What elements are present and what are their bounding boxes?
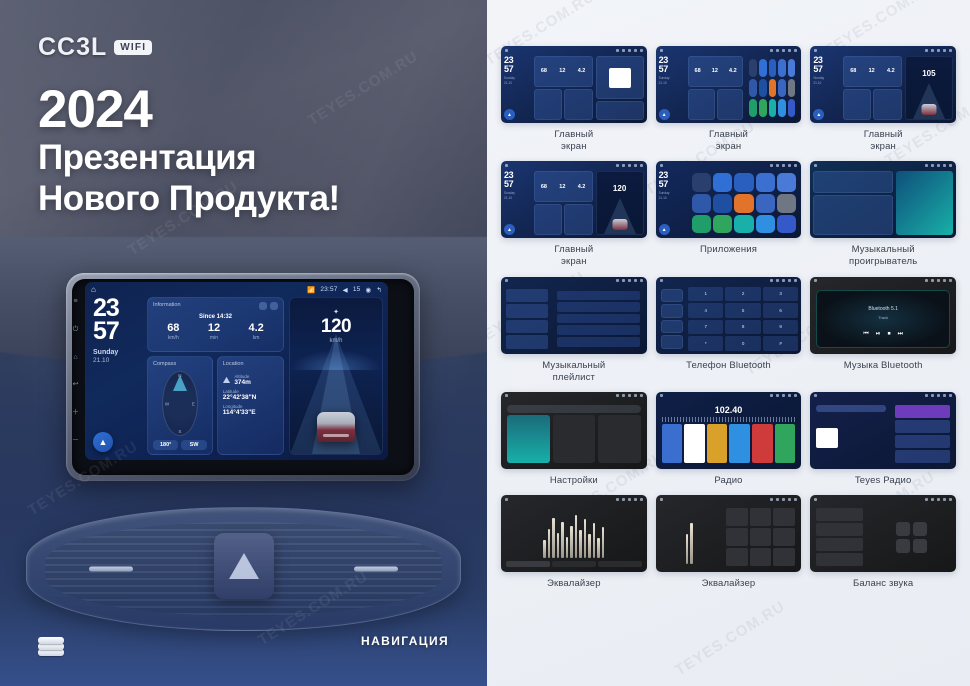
app-icon	[749, 99, 757, 117]
volume-icon	[628, 498, 631, 501]
wifi-tile	[507, 415, 550, 463]
app-icon	[769, 59, 777, 77]
volume-icon	[628, 394, 631, 397]
location-card	[717, 89, 744, 120]
side-key-menu-icon[interactable]: ≡	[73, 298, 77, 305]
dialer-key: 0	[725, 336, 760, 351]
app-icon	[749, 59, 757, 77]
gallery-item-label: Главныйэкран	[864, 129, 903, 153]
app-icon	[734, 215, 753, 234]
thumb-status-bar	[656, 46, 802, 54]
screen-thumbnail[interactable]: 2357Sunday21.10▲68124.2	[501, 46, 647, 123]
seat-icon	[913, 522, 927, 536]
hero-panel: TEYES.COM.RU TEYES.COM.RU TEYES.COM.RU T…	[0, 0, 487, 686]
app-icon	[788, 79, 796, 97]
list-item	[506, 320, 548, 334]
assistant-icon	[788, 394, 791, 397]
thumb-status-bar	[501, 495, 647, 503]
compass-card[interactable]: Compass N S W E 180°	[147, 356, 213, 455]
equalizer-band	[602, 527, 605, 558]
wifi-icon	[616, 498, 619, 501]
thumbnail-content: 2357Sunday21.10▲68124.2	[656, 54, 802, 123]
gallery-item[interactable]: Музыкальныйплейлист	[501, 277, 647, 384]
preset-button	[726, 548, 748, 566]
thumb-clock-widget: 2357Sunday21.10▲	[659, 56, 685, 120]
back-icon	[794, 49, 797, 52]
headline-line-1: Презентация	[38, 137, 340, 178]
equalizer-band	[548, 529, 551, 558]
screen-thumbnail[interactable]	[810, 161, 956, 238]
information-header: Information	[153, 302, 278, 310]
drive-view-card[interactable]: ✦ 120 km/h	[289, 297, 383, 455]
assistant-icon	[788, 164, 791, 167]
screen-thumbnail[interactable]	[501, 495, 647, 572]
information-since: Since 14:32	[153, 314, 278, 320]
list-item	[506, 289, 548, 303]
gallery-item-label: Главныйэкран	[709, 129, 748, 153]
navigation-icon[interactable]: ▲	[93, 432, 113, 452]
thumb-widgets-column: 68124.2	[843, 56, 902, 120]
navigation-icon: ▲	[813, 109, 824, 120]
clock-weekday: Sunday21.10	[659, 76, 685, 86]
side-key-home-icon[interactable]: ⌂	[73, 354, 77, 361]
clock-icon	[931, 49, 934, 52]
drive-view-card: 120	[596, 171, 644, 235]
location-title: Location	[223, 361, 278, 367]
screen-thumbnail[interactable]	[501, 277, 647, 354]
app-shortcuts-panel	[746, 56, 798, 120]
clock-weekday: Sunday	[90, 348, 142, 357]
gallery-item-label: Эквалайзер	[547, 578, 601, 590]
home-icon	[814, 279, 817, 282]
screen-thumbnail[interactable]: 2357Sunday21.10▲68124.2105	[810, 46, 956, 123]
dialer-key: 2	[725, 287, 760, 302]
thumb-clock-widget: 2357Sunday21.10▲	[813, 56, 840, 120]
gallery-item[interactable]: Teyes Радио	[810, 392, 956, 487]
information-stats: 68124.2	[535, 172, 592, 201]
gallery-item[interactable]: Настройки	[501, 392, 647, 487]
volume-icon	[937, 279, 940, 282]
thumb-status-bar	[810, 46, 956, 54]
list-item	[506, 304, 548, 318]
list-item	[816, 553, 863, 566]
thumb-status-bar	[501, 46, 647, 54]
assistant-icon	[943, 164, 946, 167]
thumbnail-content	[501, 503, 647, 572]
hero-footer: НАВИГАЦИЯ	[0, 614, 487, 686]
volume-icon	[628, 49, 631, 52]
back-icon[interactable]: ↰	[376, 286, 382, 294]
thumbnail-content: Bluetooth 5.1Track⏮⏯⏹⏭	[810, 285, 956, 354]
thumb-status-bar	[501, 161, 647, 169]
screen-thumbnail[interactable]	[501, 392, 647, 469]
app-icon	[777, 173, 796, 192]
screen-thumbnail[interactable]: 2357Sunday21.10▲68124.2	[656, 46, 802, 123]
drive-view-card: 105	[905, 56, 953, 120]
thumbnail-content: 2357Sunday21.10▲	[656, 169, 802, 238]
equalizer-band	[557, 533, 560, 558]
home-icon	[660, 49, 663, 52]
location-card	[564, 89, 592, 120]
gallery-item-label: Приложения	[700, 244, 757, 256]
preset-grid	[723, 505, 799, 569]
drive-speed-value: 120	[290, 317, 382, 336]
gallery-item[interactable]: Bluetooth 5.1Track⏮⏯⏹⏭Музыка Bluetooth	[810, 277, 956, 384]
visualizer	[896, 171, 953, 235]
dialer-key: 3	[763, 287, 798, 302]
wifi-icon	[925, 279, 928, 282]
gallery-item[interactable]: 102.40Радио	[656, 392, 802, 487]
stat-duration: 12 min	[208, 323, 220, 341]
information-card[interactable]: Information Since 14:32 68	[147, 297, 284, 352]
back-icon	[794, 164, 797, 167]
volume-icon	[782, 498, 785, 501]
app-icon	[692, 173, 711, 192]
media-widget	[596, 56, 644, 120]
thumb-status-bar	[656, 161, 802, 169]
thumb-status-bar	[810, 277, 956, 285]
clock-icon	[622, 394, 625, 397]
clock-icon	[622, 49, 625, 52]
compass-east-label: E	[192, 401, 195, 406]
app-icon	[756, 215, 775, 234]
clock-icon	[931, 498, 934, 501]
screen-thumbnail[interactable]: 123456789*0#	[656, 277, 802, 354]
thumb-status-bar	[501, 392, 647, 400]
wifi-icon	[925, 394, 928, 397]
preset-button	[726, 508, 748, 526]
layers-icon	[38, 636, 64, 656]
gallery-item[interactable]: 2357Sunday21.10▲Приложения	[656, 161, 802, 268]
album-art	[609, 68, 631, 88]
screen-thumbnail[interactable]	[810, 495, 956, 572]
list-item	[506, 335, 548, 349]
watermark: TEYES.COM.RU	[672, 598, 788, 679]
stop-icon: ⏹	[888, 331, 891, 338]
balance-pad	[869, 505, 953, 569]
wifi-icon	[925, 49, 928, 52]
head-unit-screen[interactable]: ⌂ 📶 23:57 ◀ 15 ◉ ↰ 23 57 Sunday	[85, 282, 388, 460]
headline-line-2: Нового Продукта!	[38, 178, 340, 219]
clock-minutes: 57	[659, 180, 687, 189]
preset-tile	[707, 424, 728, 463]
wifi-icon	[925, 164, 928, 167]
equalizer-band	[543, 540, 546, 558]
clock-icon	[931, 164, 934, 167]
hazard-triangle-icon	[229, 553, 259, 579]
drive-speed-unit: km/h	[290, 338, 382, 344]
screen-thumbnail[interactable]: Bluetooth 5.1Track⏮⏯⏹⏭	[810, 277, 956, 354]
app-icon	[692, 194, 711, 213]
status-volume: 15	[353, 286, 361, 293]
assistant-icon	[634, 164, 637, 167]
back-icon	[949, 394, 952, 397]
information-stats: 68124.2	[689, 57, 742, 86]
equalizer-band	[686, 534, 689, 564]
home-icon	[814, 498, 817, 501]
gallery-item[interactable]: 2357Sunday21.10▲68124.2105Главныйэкран	[810, 46, 956, 153]
tuning-scale	[662, 417, 796, 422]
car-3d-model	[612, 219, 627, 230]
volume-icon	[782, 394, 785, 397]
clock-icon	[776, 164, 779, 167]
thumb-clock-widget: 2357Sunday21.10▲	[504, 171, 531, 235]
app-grid	[690, 171, 799, 235]
track-title: Track	[816, 315, 950, 320]
vent-slider-right[interactable]	[354, 567, 398, 572]
latitude-value: 22°42'38"N	[223, 394, 278, 401]
list-item	[557, 337, 640, 347]
stat-distance: 4.2 km	[248, 323, 263, 341]
previous-icon: ⏮	[863, 331, 868, 338]
wifi-icon	[616, 394, 619, 397]
preset-button	[773, 548, 795, 566]
teyes-radio-player	[813, 402, 889, 466]
preset-button	[750, 548, 772, 566]
list-item	[557, 325, 640, 335]
gallery-item[interactable]: 2357Sunday21.10▲68124.2Главныйэкран	[656, 46, 802, 153]
dialer-key: 1	[688, 287, 723, 302]
volume-icon	[937, 164, 940, 167]
side-key-volume-down-icon[interactable]: －	[72, 437, 79, 444]
app-icon	[788, 99, 796, 117]
assistant-icon	[634, 394, 637, 397]
gallery-item[interactable]: 2357Sunday21.10▲68124.2120Главныйэкран	[501, 161, 647, 268]
wifi-icon	[925, 498, 928, 501]
home-icon	[660, 394, 663, 397]
thumb-clock-widget: 2357Sunday21.10▲	[504, 56, 531, 120]
volume-icon	[937, 498, 940, 501]
list-item	[816, 508, 863, 521]
thumb-widgets-column: 68124.2	[534, 56, 593, 120]
screen-thumbnail[interactable]: 102.40	[656, 392, 802, 469]
list-item	[557, 302, 640, 312]
compass-dial: N S W E	[162, 371, 198, 436]
side-key-power-icon[interactable]: ⏻	[73, 326, 79, 333]
volume-icon	[937, 49, 940, 52]
equalizer-band	[588, 534, 591, 558]
clock-icon	[622, 164, 625, 167]
clock-minutes: 57	[90, 320, 142, 343]
gallery-item[interactable]: 123456789*0#Телефон Bluetooth	[656, 277, 802, 384]
location-card[interactable]: Location ⛰ Altitude 374m	[217, 356, 284, 455]
gallery-item[interactable]: Баланс звука	[810, 495, 956, 590]
app-icon	[713, 215, 732, 234]
back-icon	[794, 279, 797, 282]
gallery-item[interactable]: Музыкальныйпроигрыватель	[810, 161, 956, 268]
thumbnail-content: 123456789*0#	[656, 285, 802, 354]
volume-icon	[937, 394, 940, 397]
head-unit-side-keys[interactable]: ≡ ⏻ ⌂ ↩ ＋ －	[66, 282, 85, 460]
clock-icon	[776, 498, 779, 501]
app-icon	[769, 79, 777, 97]
dialer-key: 4	[688, 303, 723, 318]
drive-speed-value: 105	[906, 69, 952, 78]
settings-tabs	[507, 405, 641, 413]
wifi-icon	[616, 279, 619, 282]
gallery-item-label: Радио	[714, 475, 742, 487]
home-icon	[814, 394, 817, 397]
more-tile	[598, 415, 641, 463]
clock-icon	[931, 394, 934, 397]
equalizer-bands	[506, 507, 642, 561]
information-stats: 68124.2	[535, 57, 592, 86]
home-screen-body: 23 57 Sunday 21.10 ▲ Information	[85, 297, 388, 460]
gallery-item[interactable]: Эквалайзер	[501, 495, 647, 590]
home-icon	[505, 164, 508, 167]
play-pause-icon: ⏯	[876, 331, 881, 338]
clock-icon	[776, 49, 779, 52]
back-icon	[640, 164, 643, 167]
equalizer-band	[561, 522, 564, 558]
dialer-key: 5	[725, 303, 760, 318]
information-card: 68124.2	[534, 171, 593, 202]
preset-button	[750, 528, 772, 546]
thumb-status-bar	[810, 495, 956, 503]
list-item	[895, 405, 950, 418]
app-icon	[778, 79, 786, 97]
equalizer-band	[575, 515, 578, 558]
home-icon	[660, 279, 663, 282]
side-key-volume-up-icon[interactable]: ＋	[72, 409, 79, 416]
mountain-icon: ⛰	[223, 375, 231, 386]
volume-icon: ◀	[343, 286, 348, 294]
stat-value: 68	[167, 323, 179, 334]
thumbnail-content: 2357Sunday21.10▲68124.2105	[810, 54, 956, 123]
settings-panel	[504, 402, 644, 466]
equalizer-band	[579, 530, 582, 558]
information-stats: 68 km/h 12 min 4.2 km	[153, 323, 278, 341]
location-card	[564, 204, 592, 235]
dialer-key: #	[763, 336, 798, 351]
information-stats: 68124.2	[844, 57, 901, 86]
wifi-icon	[770, 498, 773, 501]
equalizer-panel	[504, 505, 644, 569]
clock-icon	[776, 279, 779, 282]
thumb-clock-widget: 2357Sunday21.10▲	[659, 171, 687, 235]
screen-thumbnail[interactable]: 2357Sunday21.10▲68124.2120	[501, 161, 647, 238]
app-icon	[713, 194, 732, 213]
clock-icon	[622, 498, 625, 501]
equalizer-band	[566, 537, 569, 558]
list-item	[557, 291, 640, 301]
information-reset-icon[interactable]	[270, 302, 278, 310]
app-icon	[734, 173, 753, 192]
clock-date: 21.10	[90, 357, 142, 364]
preset-tile	[684, 424, 705, 463]
screen-thumbnail[interactable]	[810, 392, 956, 469]
wifi-icon: 📶	[307, 286, 315, 294]
list-column	[504, 287, 550, 351]
gallery-item-label: Баланс звука	[853, 578, 913, 590]
preset-tile	[775, 424, 796, 463]
gallery-item-label: Главныйэкран	[554, 129, 593, 153]
home-icon	[660, 164, 663, 167]
thumbnail-content	[656, 503, 802, 572]
clock-minutes: 57	[659, 65, 685, 74]
information-card: 68124.2	[688, 56, 743, 87]
information-card: 68124.2	[534, 56, 593, 87]
longitude-value: 114°4'33"E	[223, 409, 278, 416]
clock-weekday: Sunday21.10	[659, 191, 687, 201]
vent-slider-left[interactable]	[89, 567, 133, 572]
home-icon[interactable]: ⌂	[91, 285, 96, 294]
information-settings-icon[interactable]	[259, 302, 267, 310]
assistant-icon	[634, 279, 637, 282]
stat-unit: min	[208, 335, 220, 341]
preset-tile	[662, 424, 683, 463]
gallery-item-label: Teyes Радио	[855, 475, 912, 487]
gallery-item[interactable]: 2357Sunday21.10▲68124.2Главныйэкран	[501, 46, 647, 153]
wifi-icon	[770, 164, 773, 167]
assistant-icon	[788, 49, 791, 52]
navigation-icon: ▲	[659, 224, 670, 235]
volume-icon	[782, 279, 785, 282]
app-icon	[778, 99, 786, 117]
seat-icon	[913, 539, 927, 553]
gallery-item[interactable]: Эквалайзер	[656, 495, 802, 590]
equalizer-tabs	[506, 561, 642, 567]
clock-widget[interactable]: 23 57 Sunday 21.10 ▲	[90, 297, 142, 455]
app-icon	[756, 173, 775, 192]
compass-south-label: S	[178, 429, 181, 434]
screen-thumbnail[interactable]: 2357Sunday21.10▲	[656, 161, 802, 238]
preset-button	[726, 528, 748, 546]
side-key-back-icon[interactable]: ↩	[73, 381, 79, 388]
assistant-icon	[943, 498, 946, 501]
clock-minutes: 57	[504, 65, 531, 74]
balance-presets	[813, 505, 866, 569]
compass-west-label: W	[165, 401, 169, 406]
back-icon	[794, 394, 797, 397]
equalizer-band	[597, 538, 600, 558]
home-icon	[505, 279, 508, 282]
dialer-sidebar	[659, 287, 685, 351]
location-card	[873, 89, 901, 120]
wifi-icon	[616, 164, 619, 167]
back-icon	[949, 498, 952, 501]
back-icon	[640, 394, 643, 397]
assistant-icon	[943, 49, 946, 52]
equalizer-band	[552, 518, 555, 558]
information-title: Information	[153, 302, 181, 308]
stat-value: 12	[208, 323, 220, 334]
clock-weekday: Sunday21.10	[504, 191, 531, 201]
bluetooth-version: Bluetooth 5.1	[816, 306, 950, 312]
assistant-icon	[943, 394, 946, 397]
app-icon	[756, 194, 775, 213]
compass-card	[534, 89, 562, 120]
dialer-key: 6	[763, 303, 798, 318]
status-time: 23:57	[320, 286, 337, 293]
gallery-item-label: Главныйэкран	[554, 244, 593, 268]
assistant-icon[interactable]: ◉	[365, 286, 371, 294]
list-item	[816, 523, 863, 536]
app-icon	[713, 173, 732, 192]
thumbnail-content: 2357Sunday21.10▲68124.2	[501, 54, 647, 123]
home-icon	[505, 498, 508, 501]
thumb-widgets-column: 68124.2	[534, 171, 593, 235]
hazard-light-button[interactable]	[214, 533, 274, 599]
information-card: 68124.2	[843, 56, 902, 87]
screen-thumbnail[interactable]	[656, 495, 802, 572]
dialer-key: 8	[725, 320, 760, 335]
gallery-item-label: Эквалайзер	[702, 578, 756, 590]
back-icon	[640, 279, 643, 282]
station-list	[892, 402, 953, 466]
headline-year: 2024	[38, 82, 340, 137]
thumb-status-bar	[656, 277, 802, 285]
